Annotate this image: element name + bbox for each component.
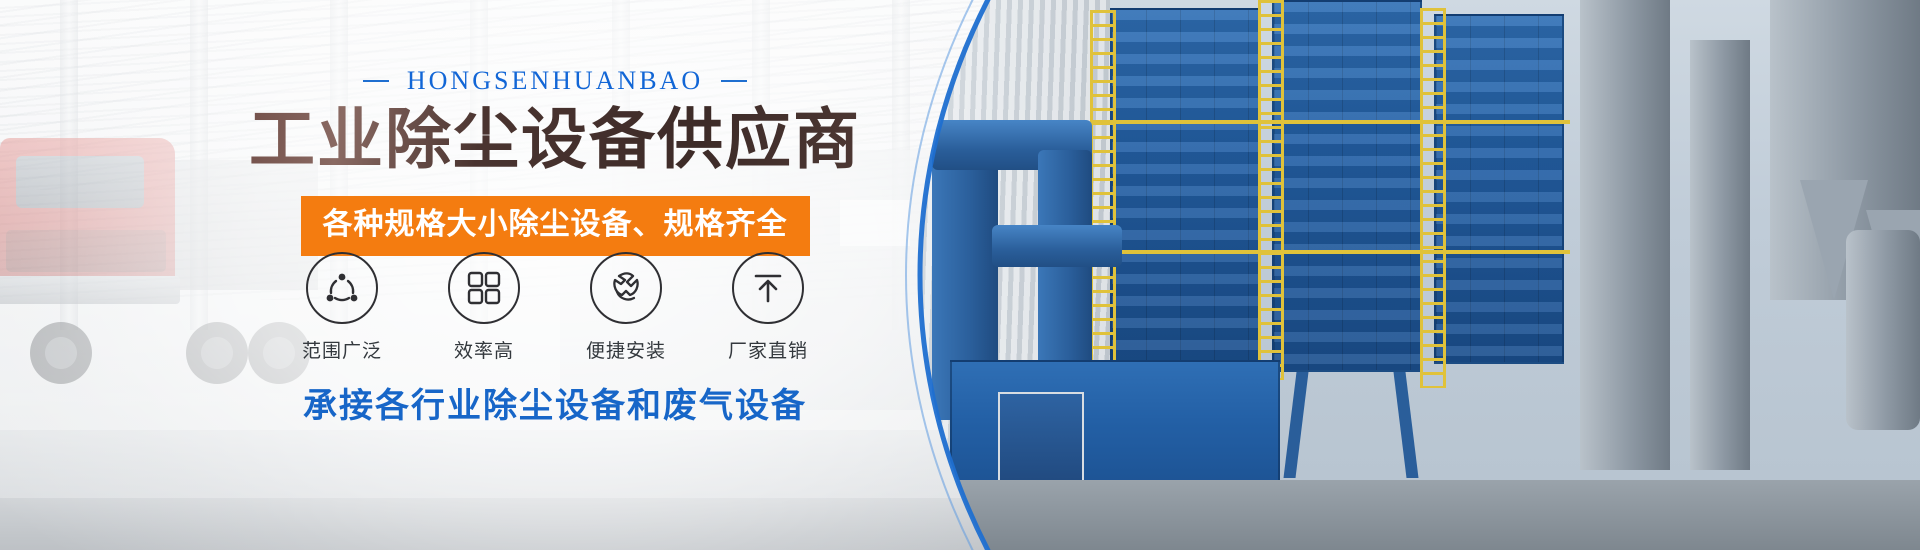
hero-banner: HONGSENHUANBAO 工业除尘设备供应商 各种规格大小除尘设备、规格齐全 (0, 0, 1920, 550)
horizontal-duct (992, 225, 1122, 267)
feature-label: 范围广泛 (288, 336, 396, 363)
feature-item-efficiency[interactable]: 效率高 (430, 252, 538, 363)
arrow-up-bar-icon (749, 269, 787, 307)
wrench-rotate-icon (606, 268, 646, 308)
page-title: 工业除尘设备供应商 (0, 104, 1000, 175)
brand-eyebrow: HONGSENHUANBAO (0, 66, 1000, 96)
tank-panel-texture (1436, 16, 1562, 362)
yellow-ladder (1090, 10, 1116, 390)
grey-tower (1580, 0, 1670, 470)
eyebrow-dash-right (721, 80, 747, 82)
eyebrow-dash-left (363, 80, 389, 82)
feature-item-installation[interactable]: 便捷安装 (572, 252, 680, 363)
feature-icon-circle (306, 252, 378, 324)
yellow-ladder (1420, 8, 1446, 388)
yellow-ladder (1258, 0, 1284, 380)
feature-icon-circle (732, 252, 804, 324)
vertical-duct (1038, 150, 1092, 390)
feature-item-direct-sales[interactable]: 厂家直销 (714, 252, 822, 363)
brand-pinyin: HONGSENHUANBAO (407, 66, 703, 96)
feature-list: 范围广泛 效率高 (0, 252, 1000, 363)
tank-panel-texture (1274, 2, 1420, 370)
tagline: 承接各行业除尘设备和废气设备 (0, 378, 1000, 427)
tank-panel-texture (1112, 10, 1258, 366)
grid-squares-icon (465, 269, 503, 307)
subtitle-bar: 各种规格大小除尘设备、规格齐全 (0, 196, 1000, 256)
feature-icon-circle (448, 252, 520, 324)
yellow-railing (1090, 250, 1570, 254)
feature-icon-circle (590, 252, 662, 324)
feature-label: 效率高 (430, 336, 538, 363)
subtitle-text: 各种规格大小除尘设备、规格齐全 (301, 196, 810, 256)
grey-tower (1690, 40, 1750, 470)
feature-label: 便捷安装 (572, 336, 680, 363)
yellow-railing (1090, 120, 1570, 124)
grey-cylinder (1846, 230, 1920, 430)
feature-item-coverage[interactable]: 范围广泛 (288, 252, 396, 363)
feature-label: 厂家直销 (714, 336, 822, 363)
banner-content: HONGSENHUANBAO 工业除尘设备供应商 各种规格大小除尘设备、规格齐全 (0, 0, 1000, 550)
network-nodes-icon (322, 268, 362, 308)
